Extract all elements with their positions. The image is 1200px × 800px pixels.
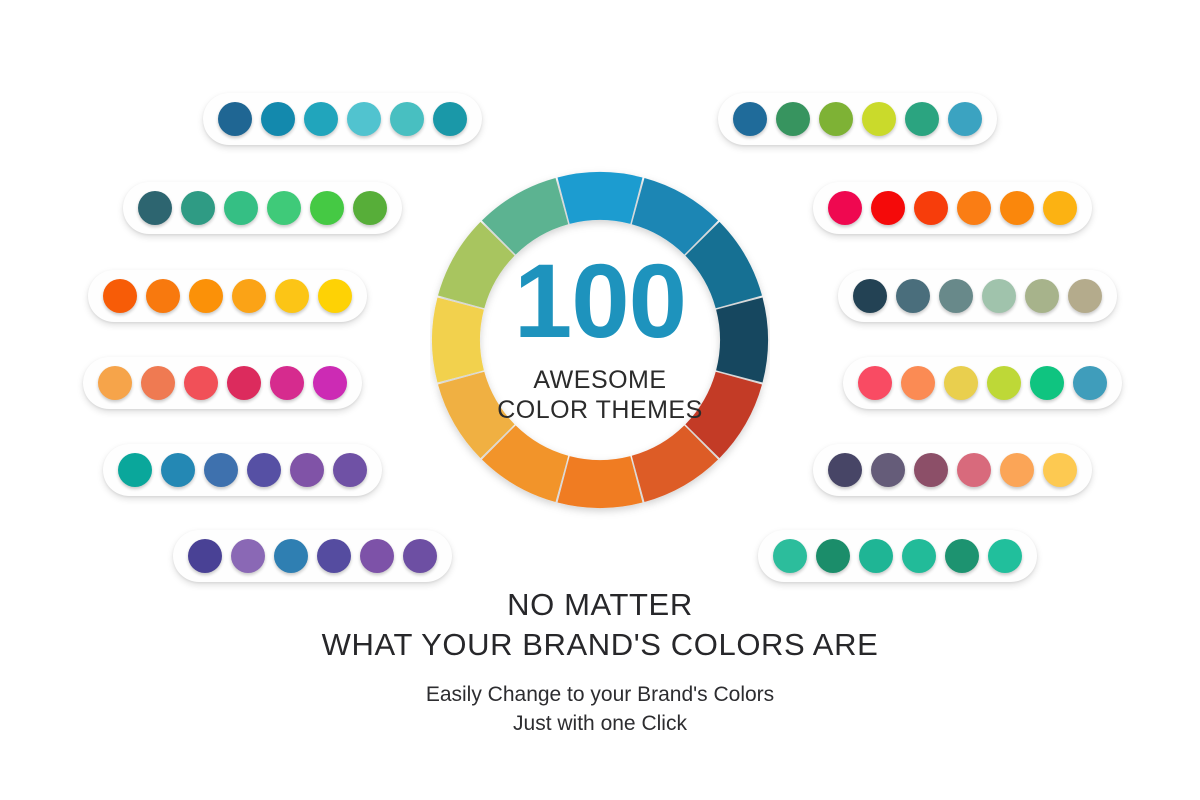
color-swatch[interactable] [138, 191, 172, 225]
subline-1: Easily Change to your Brand's Colors [0, 681, 1200, 710]
color-swatch[interactable] [161, 453, 195, 487]
color-swatch[interactable] [819, 102, 853, 136]
color-swatch[interactable] [902, 539, 936, 573]
palette-pill-reds-oranges[interactable] [813, 182, 1092, 234]
color-swatch[interactable] [318, 279, 352, 313]
color-swatch[interactable] [189, 279, 223, 313]
palette-pill-forest-lime[interactable] [718, 93, 997, 145]
palette-pill-teal-purples[interactable] [103, 444, 382, 496]
color-swatch[interactable] [914, 191, 948, 225]
color-swatch[interactable] [188, 539, 222, 573]
subline-2: Just with one Click [0, 710, 1200, 739]
color-swatch[interactable] [360, 539, 394, 573]
color-swatch[interactable] [98, 366, 132, 400]
palette-pill-oranges-yellows[interactable] [88, 270, 367, 322]
color-swatch[interactable] [218, 102, 252, 136]
color-swatch[interactable] [828, 453, 862, 487]
palette-pill-bright-mix[interactable] [843, 357, 1122, 409]
color-swatch[interactable] [267, 191, 301, 225]
color-swatch[interactable] [353, 191, 387, 225]
color-swatch[interactable] [333, 453, 367, 487]
color-swatch[interactable] [988, 539, 1022, 573]
color-swatch[interactable] [1073, 366, 1107, 400]
palette-pill-muted-slates[interactable] [838, 270, 1117, 322]
color-swatch[interactable] [871, 191, 905, 225]
palette-pill-violets[interactable] [173, 530, 452, 582]
donut-segment-navy-slate[interactable] [716, 298, 768, 383]
color-swatch[interactable] [103, 279, 137, 313]
palette-pill-emeralds[interactable] [758, 530, 1037, 582]
color-swatch[interactable] [227, 366, 261, 400]
color-swatch[interactable] [1043, 453, 1077, 487]
color-swatch[interactable] [776, 102, 810, 136]
color-swatch[interactable] [1025, 279, 1059, 313]
poster-canvas: 100 AWESOME COLOR THEMES NO MATTER WHAT … [0, 0, 1200, 800]
color-swatch[interactable] [146, 279, 180, 313]
color-wheel-donut [430, 155, 770, 525]
color-swatch[interactable] [232, 279, 266, 313]
palette-pill-greens[interactable] [123, 182, 402, 234]
color-swatch[interactable] [1030, 366, 1064, 400]
color-swatch[interactable] [347, 102, 381, 136]
color-swatch[interactable] [433, 102, 467, 136]
color-swatch[interactable] [247, 453, 281, 487]
color-swatch[interactable] [310, 191, 344, 225]
color-swatch[interactable] [290, 453, 324, 487]
color-swatch[interactable] [957, 191, 991, 225]
color-swatch[interactable] [939, 279, 973, 313]
palette-pill-dusk[interactable] [813, 444, 1092, 496]
color-swatch[interactable] [982, 279, 1016, 313]
color-swatch[interactable] [853, 279, 887, 313]
color-swatch[interactable] [828, 191, 862, 225]
headline-line1: NO MATTER [0, 585, 1200, 625]
palette-pill-blues[interactable] [203, 93, 482, 145]
color-swatch[interactable] [270, 366, 304, 400]
donut-segment-yellow[interactable] [432, 298, 484, 383]
color-swatch[interactable] [773, 539, 807, 573]
color-swatch[interactable] [261, 102, 295, 136]
color-swatch[interactable] [1000, 191, 1034, 225]
color-swatch[interactable] [987, 366, 1021, 400]
color-swatch[interactable] [733, 102, 767, 136]
color-swatch[interactable] [275, 279, 309, 313]
color-swatch[interactable] [905, 102, 939, 136]
color-swatch[interactable] [118, 453, 152, 487]
color-swatch[interactable] [304, 102, 338, 136]
donut-segment-cyan-blue[interactable] [558, 172, 643, 224]
color-swatch[interactable] [859, 539, 893, 573]
color-swatch[interactable] [945, 539, 979, 573]
color-swatch[interactable] [317, 539, 351, 573]
donut-segment-orange[interactable] [558, 456, 643, 508]
color-swatch[interactable] [862, 102, 896, 136]
color-swatch[interactable] [1043, 191, 1077, 225]
color-swatch[interactable] [901, 366, 935, 400]
color-swatch[interactable] [224, 191, 258, 225]
color-swatch[interactable] [914, 453, 948, 487]
color-swatch[interactable] [141, 366, 175, 400]
donut-ring [432, 172, 768, 508]
palette-pill-corals-pinks[interactable] [83, 357, 362, 409]
bottom-copy-block: NO MATTER WHAT YOUR BRAND'S COLORS ARE E… [0, 585, 1200, 739]
color-swatch[interactable] [313, 366, 347, 400]
color-swatch[interactable] [184, 366, 218, 400]
color-swatch[interactable] [816, 539, 850, 573]
donut-svg [430, 155, 770, 525]
color-swatch[interactable] [858, 366, 892, 400]
color-swatch[interactable] [274, 539, 308, 573]
color-swatch[interactable] [231, 539, 265, 573]
color-swatch[interactable] [871, 453, 905, 487]
color-swatch[interactable] [1068, 279, 1102, 313]
sub-copy-block: Easily Change to your Brand's Colors Jus… [0, 681, 1200, 739]
color-swatch[interactable] [896, 279, 930, 313]
headline-line2: WHAT YOUR BRAND'S COLORS ARE [0, 625, 1200, 665]
color-swatch[interactable] [390, 102, 424, 136]
color-swatch[interactable] [957, 453, 991, 487]
color-swatch[interactable] [948, 102, 982, 136]
color-swatch[interactable] [1000, 453, 1034, 487]
color-swatch[interactable] [204, 453, 238, 487]
color-swatch[interactable] [944, 366, 978, 400]
color-swatch[interactable] [403, 539, 437, 573]
color-swatch[interactable] [181, 191, 215, 225]
